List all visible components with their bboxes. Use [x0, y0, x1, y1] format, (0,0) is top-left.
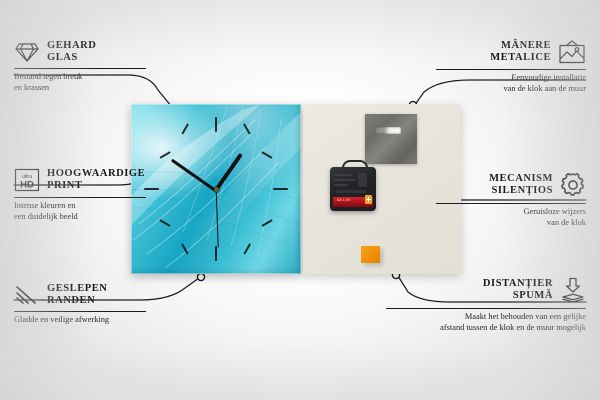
- ultra-hd-icon: ultra HD: [14, 168, 40, 192]
- battery-plus-terminal: [365, 195, 372, 204]
- metal-hanger-plate: [365, 114, 417, 164]
- callout-desc-line1: Eenvoudige installatie: [436, 73, 586, 84]
- clock-hand-hub: [214, 187, 219, 192]
- mechanism-detail-3: [334, 184, 348, 186]
- mechanism-detail-5: [336, 190, 366, 193]
- callout-metal-hangers[interactable]: MÂNERE METALICE Eenvoudige installatie v…: [436, 40, 586, 94]
- callout-rule: [14, 68, 146, 69]
- callout-desc-line2: van de klok aan de muur: [436, 84, 586, 95]
- callout-desc-line1: Geruisloze wijzers: [436, 207, 586, 218]
- infographic-canvas: AA 1.5V GEHARD GLAS Besta: [0, 0, 600, 400]
- callout-title-line1: GESLEPEN: [47, 283, 107, 295]
- picture-frame-hook-icon: [558, 40, 586, 64]
- callout-title-line2: SPUMĂ: [483, 290, 553, 302]
- callout-foam-spacer[interactable]: DISTANȚIER SPUMĂ Maakt het behouden van …: [386, 277, 586, 333]
- clock-tick-12: [215, 117, 217, 132]
- callout-desc-line2: een duidelijk beeld: [14, 212, 174, 223]
- callout-title-line2: METALICE: [490, 52, 551, 64]
- callout-desc-line1: Intense kleuren en: [14, 201, 174, 212]
- callout-title-line2: GLAS: [47, 52, 96, 64]
- callout-polished-edges[interactable]: GESLEPEN RANDEN Gladde en veilige afwerk…: [14, 283, 174, 326]
- callout-rule: [14, 197, 146, 198]
- diamond-icon: [14, 41, 40, 63]
- callout-silent-mechanism[interactable]: MECANISM SILENȚIOS Geruisloze wijzers va…: [436, 172, 586, 228]
- callout-rule: [436, 203, 586, 204]
- callout-rule: [386, 308, 586, 309]
- wire-dot-polished-edges: [197, 273, 204, 280]
- callout-desc-line2: van de klok: [436, 218, 586, 229]
- polished-edges-icon: [14, 284, 40, 306]
- mechanism-detail-1: [334, 174, 352, 176]
- quartz-movement-box: AA 1.5V: [330, 167, 376, 211]
- callout-desc-line2: afstand tussen de klok en de muur mogeli…: [386, 323, 586, 334]
- hanger-keyhole-slot: [375, 127, 401, 134]
- callout-desc-line1: Maakt het behouden van een gelijke: [386, 312, 586, 323]
- callout-title-line1: MÂNERE: [490, 40, 551, 52]
- mechanism-detail-4: [358, 173, 367, 187]
- callout-tempered-glass[interactable]: GEHARD GLAS Bestand tegen breuk en krass…: [14, 40, 164, 93]
- clock-tick-6: [215, 246, 217, 261]
- battery-label: AA 1.5V: [337, 198, 351, 202]
- callout-title-line1: GEHARD: [47, 40, 96, 52]
- callout-title-line2: PRINT: [47, 180, 145, 192]
- callout-desc-line2: en krassen: [14, 83, 164, 94]
- callout-desc-line1: Gladde en veilige afwerking: [14, 315, 174, 326]
- callout-hd-print[interactable]: ultra HD HOOGWAARDIGE PRINT Intense kleu…: [14, 168, 174, 222]
- gear-icon: [560, 172, 586, 198]
- clock-tick-3: [273, 188, 288, 190]
- mechanism-detail-2: [334, 179, 356, 181]
- callout-title-line2: RANDEN: [47, 295, 107, 307]
- callout-title-line2: SILENȚIOS: [489, 185, 553, 197]
- product-photo: AA 1.5V: [131, 104, 461, 274]
- callout-desc-line1: Bestand tegen breuk: [14, 72, 164, 83]
- battery: AA 1.5V: [333, 197, 373, 207]
- foam-spacer-piece: [361, 246, 380, 263]
- callout-title-line1: DISTANȚIER: [483, 278, 553, 290]
- callout-rule: [14, 311, 146, 312]
- callout-title-line1: MECANISM: [489, 173, 553, 185]
- arrow-down-layers-icon: [560, 277, 586, 303]
- svg-text:HD: HD: [20, 180, 34, 191]
- callout-title-line1: HOOGWAARDIGE: [47, 168, 145, 180]
- callout-rule: [436, 69, 586, 70]
